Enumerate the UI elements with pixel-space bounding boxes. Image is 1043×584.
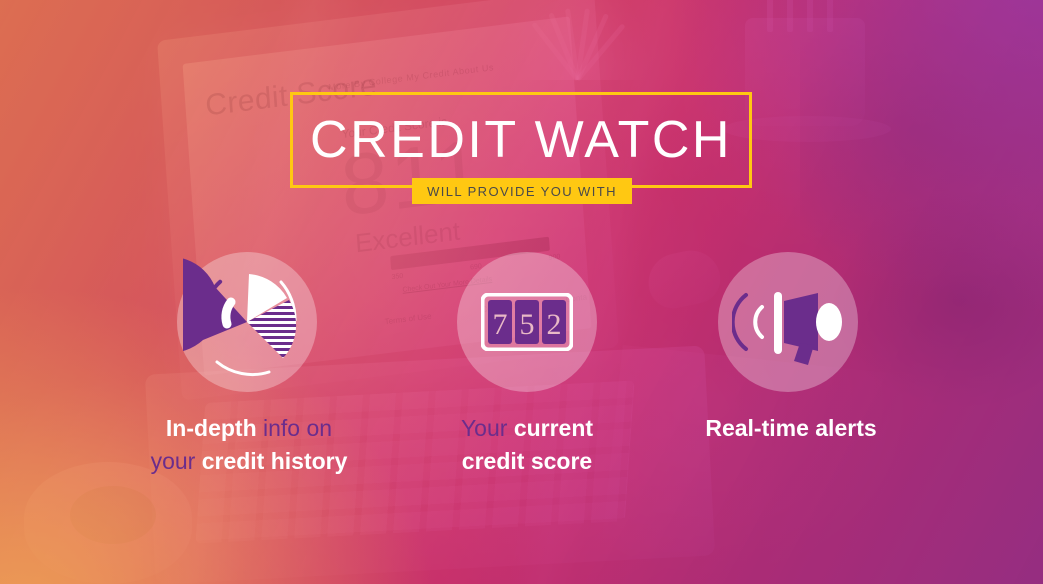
caption-regular-1: Your: [461, 415, 507, 441]
caption-bold-1: Real-time alerts: [705, 415, 876, 441]
pie-chart-icon: [177, 252, 317, 392]
caption-bold-2: credit score: [462, 448, 592, 474]
subtitle-banner: WILL PROVIDE YOU WITH: [412, 178, 632, 204]
page-title: CREDIT WATCH: [290, 92, 752, 188]
megaphone-icon: [718, 252, 858, 392]
svg-text:7: 7: [493, 308, 508, 341]
credit-score-digits-icon: 7 5 2: [457, 252, 597, 392]
caption-regular-1: info on: [263, 415, 332, 441]
slide-canvas: Credit Score More By College My Credit A…: [0, 0, 1043, 584]
svg-text:5: 5: [520, 308, 535, 341]
caption-bold-1: current: [514, 415, 593, 441]
caption-line-1: Real-time alerts: [608, 412, 974, 445]
caption-bold-1: In-depth: [166, 415, 257, 441]
caption-regular-2: your: [151, 448, 196, 474]
svg-text:2: 2: [547, 308, 562, 341]
caption-line-2: credit score: [328, 445, 726, 478]
feature-caption-realtime-alerts: Real-time alerts: [608, 412, 974, 445]
caption-bold-2: credit history: [202, 448, 348, 474]
